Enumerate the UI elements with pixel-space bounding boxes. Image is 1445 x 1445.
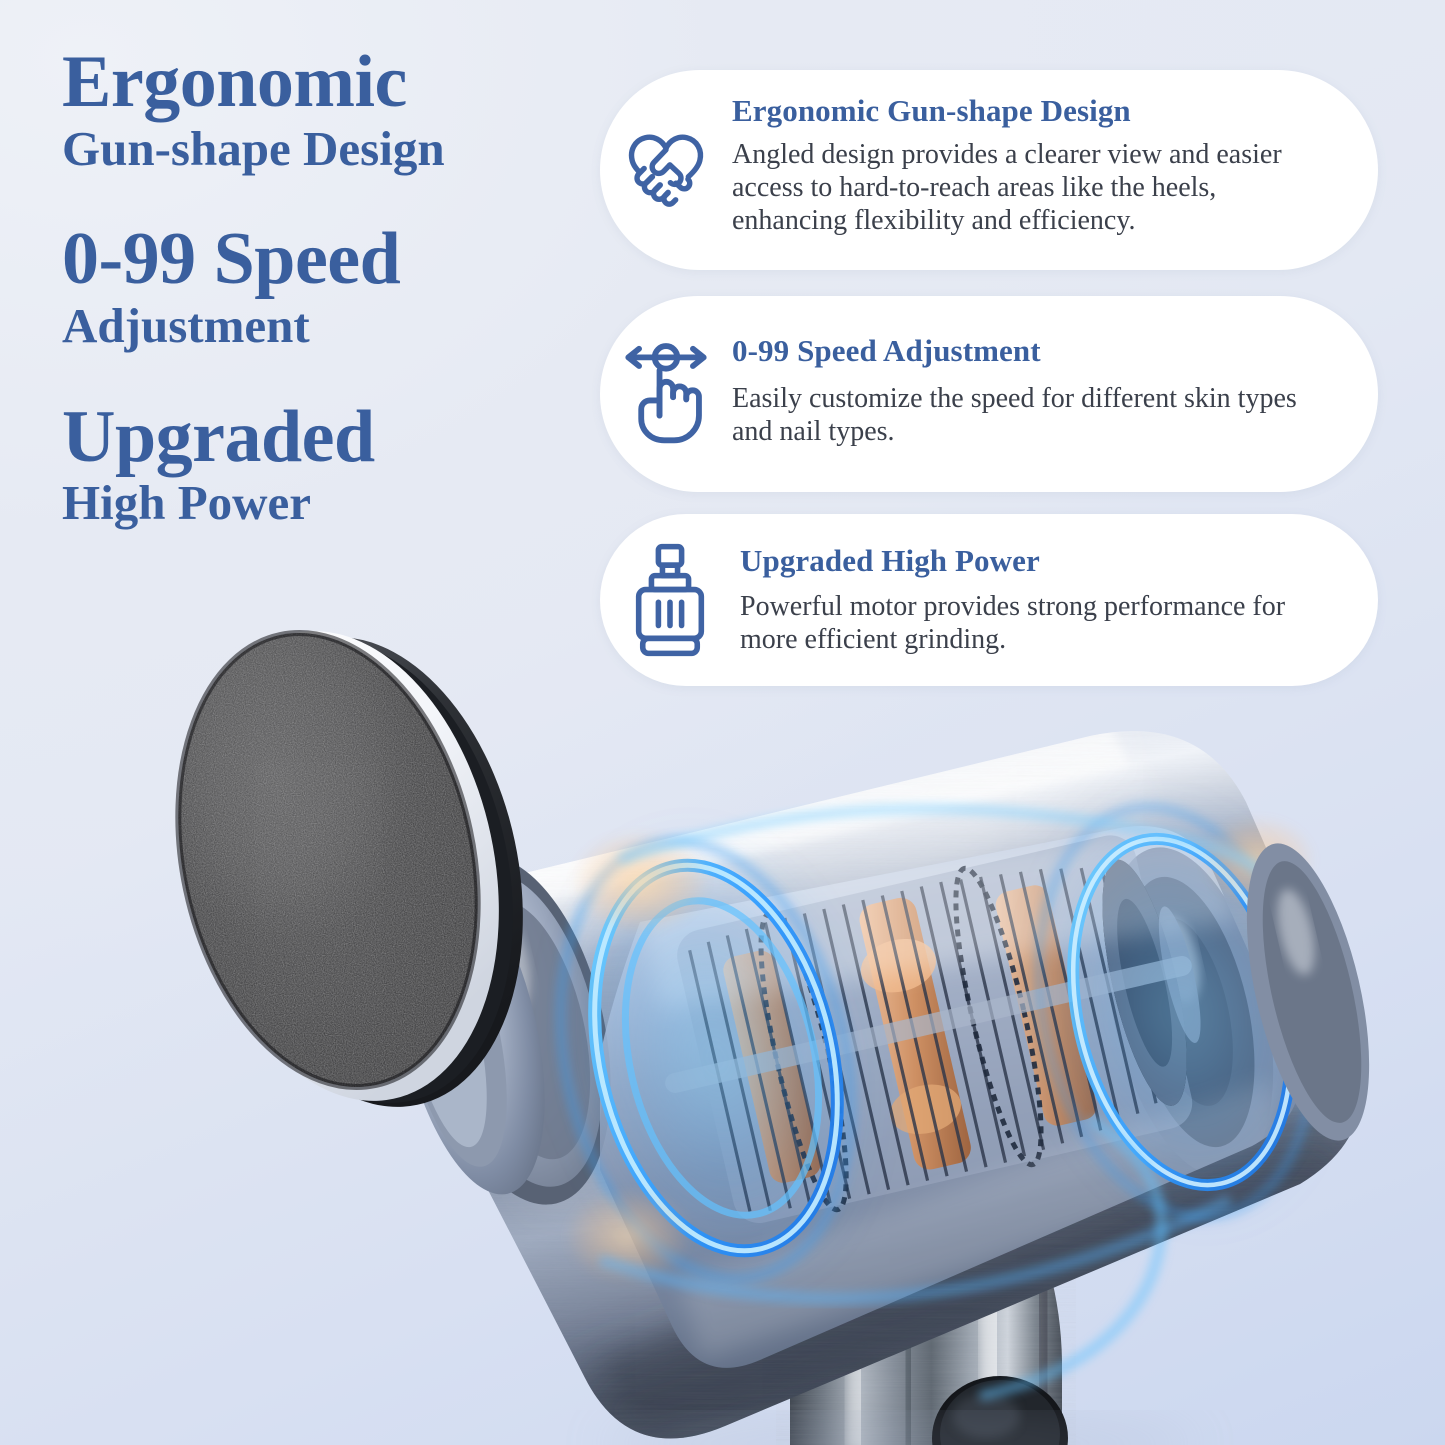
feature-card-title-2: 0-99 Speed Adjustment — [732, 334, 1316, 369]
headline-main-1: Ergonomic — [62, 46, 562, 119]
headline-main-2: 0-99 Speed — [62, 223, 562, 296]
feature-card-speed[interactable]: 0-99 Speed Adjustment Easily customize t… — [600, 296, 1378, 492]
motor-housing-cutaway — [390, 700, 1420, 1445]
feature-card-body-2: 0-99 Speed Adjustment Easily customize t… — [732, 296, 1378, 448]
feature-card-text-1: Angled design provides a clearer view an… — [732, 138, 1316, 238]
headline-sub-3: High Power — [62, 477, 562, 530]
headline-speed: 0-99 Speed Adjustment — [62, 223, 562, 352]
headline-stack: Ergonomic Gun-shape Design 0-99 Speed Ad… — [62, 46, 562, 566]
hand-slider-adjust-icon — [600, 338, 732, 450]
headline-main-3: Upgraded — [62, 401, 562, 474]
product-photo-callus-remover — [0, 560, 1445, 1445]
headline-ergonomic: Ergonomic Gun-shape Design — [62, 46, 562, 175]
feature-card-text-2: Easily customize the speed for different… — [732, 382, 1316, 449]
infographic-canvas: Ergonomic Gun-shape Design 0-99 Speed Ad… — [0, 0, 1445, 1445]
headline-sub-2: Adjustment — [62, 300, 562, 353]
feature-card-ergonomic[interactable]: Ergonomic Gun-shape Design Angled design… — [600, 70, 1378, 270]
handshake-heart-icon — [600, 118, 732, 222]
headline-power: Upgraded High Power — [62, 401, 562, 530]
feature-card-title-1: Ergonomic Gun-shape Design — [732, 94, 1316, 129]
headline-sub-1: Gun-shape Design — [62, 123, 562, 176]
feature-card-body-1: Ergonomic Gun-shape Design Angled design… — [732, 70, 1378, 238]
